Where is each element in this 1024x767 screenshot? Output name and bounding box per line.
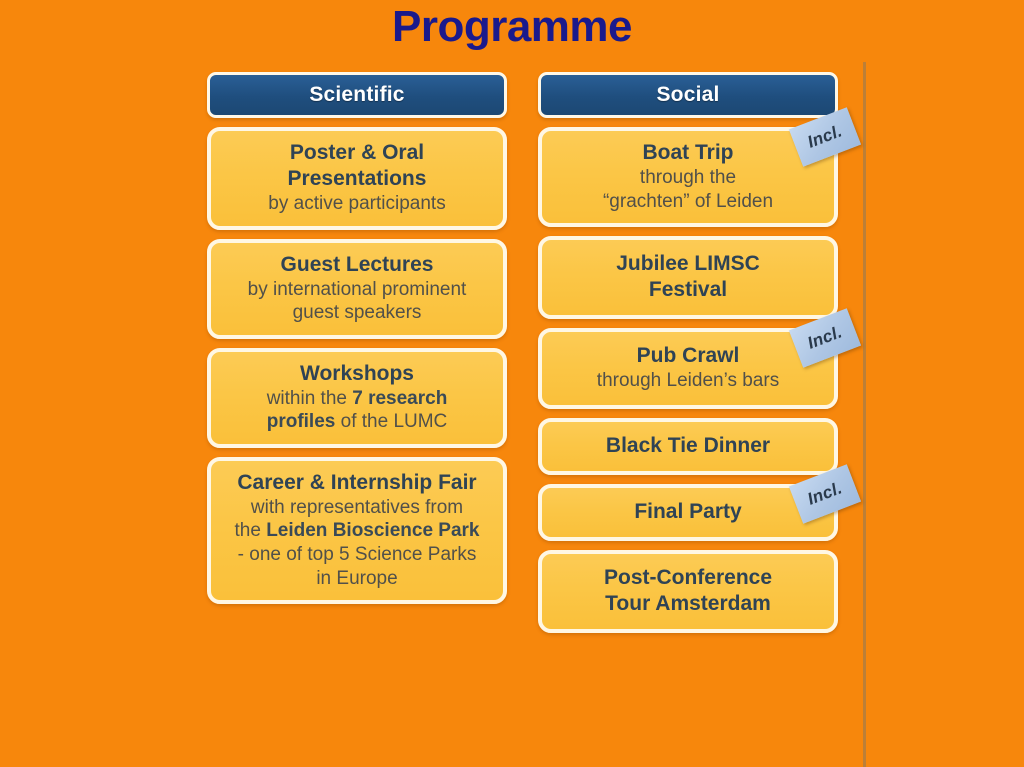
card-line: Tour Amsterdam: [552, 591, 824, 617]
programme-card-final-party[interactable]: Final PartyIncl.: [538, 484, 838, 541]
card-line: - one of top 5 Science Parks: [221, 543, 493, 567]
column-header-label: Scientific: [309, 83, 404, 107]
included-badge-label: Incl.: [805, 322, 845, 353]
included-badge-label: Incl.: [805, 478, 845, 509]
column-header-social[interactable]: Social: [538, 72, 838, 118]
column-scientific: Scientific Poster & OralPresentationsby …: [207, 72, 507, 613]
card-line: Poster & Oral: [221, 140, 493, 166]
programme-card-boat-trip[interactable]: Boat Tripthrough the“grachten” of Leiden…: [538, 127, 838, 227]
card-line: Guest Lectures: [221, 252, 493, 278]
card-line: Workshops: [221, 361, 493, 387]
card-line: Final Party: [552, 499, 824, 525]
page-title: Programme: [0, 2, 1024, 53]
card-line: Career & Internship Fair: [221, 470, 493, 496]
card-line: in Europe: [221, 567, 493, 591]
card-stack-social: Boat Tripthrough the“grachten” of Leiden…: [538, 127, 838, 633]
card-line: Presentations: [221, 166, 493, 192]
card-stack-scientific: Poster & OralPresentationsby active part…: [207, 127, 507, 604]
column-social: Social Boat Tripthrough the“grachten” of…: [538, 72, 838, 642]
programme-card-black-tie-dinner[interactable]: Black Tie Dinner: [538, 418, 838, 475]
card-line: by international prominent: [221, 278, 493, 302]
programme-card-workshops[interactable]: Workshopswithin the 7 researchprofiles o…: [207, 348, 507, 448]
slide-canvas: Programme Scientific Poster & OralPresen…: [0, 0, 1024, 767]
card-line: through Leiden’s bars: [552, 369, 824, 393]
card-line: Jubilee LIMSC: [552, 251, 824, 277]
card-line: “grachten” of Leiden: [552, 190, 824, 214]
programme-card-guest-lectures[interactable]: Guest Lecturesby international prominent…: [207, 239, 507, 339]
card-line: with representatives from: [221, 496, 493, 520]
card-line: guest speakers: [221, 301, 493, 325]
card-line: Boat Trip: [552, 140, 824, 166]
card-line: within the 7 research: [221, 387, 493, 411]
included-badge-label: Incl.: [805, 121, 845, 152]
card-line: profiles of the LUMC: [221, 410, 493, 434]
programme-columns: Scientific Poster & OralPresentationsby …: [0, 72, 1024, 767]
column-header-scientific[interactable]: Scientific: [207, 72, 507, 118]
card-line: through the: [552, 166, 824, 190]
programme-card-poster-oral-presentations[interactable]: Poster & OralPresentationsby active part…: [207, 127, 507, 230]
card-line: Pub Crawl: [552, 343, 824, 369]
programme-card-jubilee-limsc-festival[interactable]: Jubilee LIMSCFestival: [538, 236, 838, 319]
card-line: the Leiden Bioscience Park: [221, 519, 493, 543]
card-line: Festival: [552, 277, 824, 303]
column-header-label: Social: [656, 83, 719, 107]
programme-card-post-conference-tour-amsterdam[interactable]: Post-ConferenceTour Amsterdam: [538, 550, 838, 633]
programme-card-career-internship-fair[interactable]: Career & Internship Fairwith representat…: [207, 457, 507, 604]
card-line: Post-Conference: [552, 565, 824, 591]
card-line: by active participants: [221, 192, 493, 216]
card-line: Black Tie Dinner: [552, 433, 824, 459]
programme-card-pub-crawl[interactable]: Pub Crawlthrough Leiden’s barsIncl.: [538, 328, 838, 409]
